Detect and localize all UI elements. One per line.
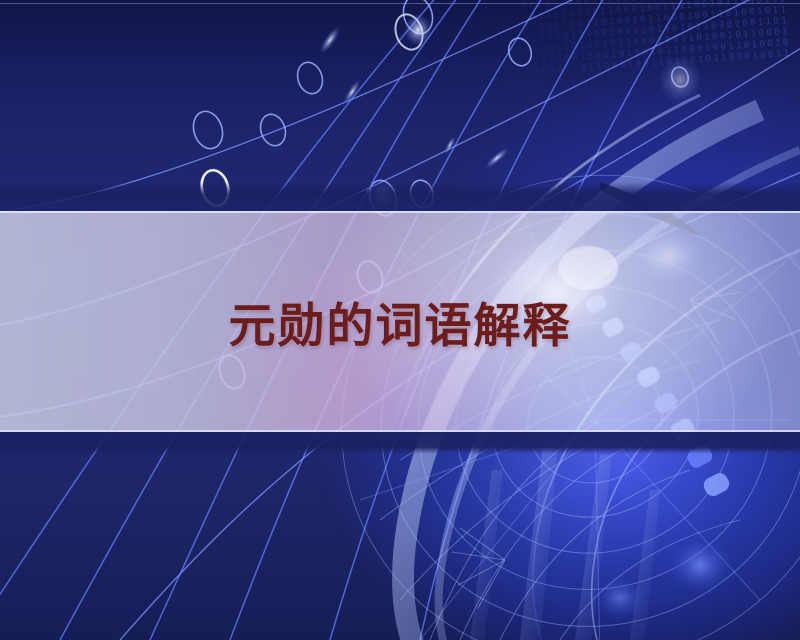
headline-band [0, 211, 800, 432]
banner-image: 0100110100101100010011010010110001001101… [0, 0, 800, 640]
band-upper-shadow [0, 182, 800, 211]
band-sheen [0, 213, 800, 430]
band-lower-shadow [0, 432, 800, 454]
